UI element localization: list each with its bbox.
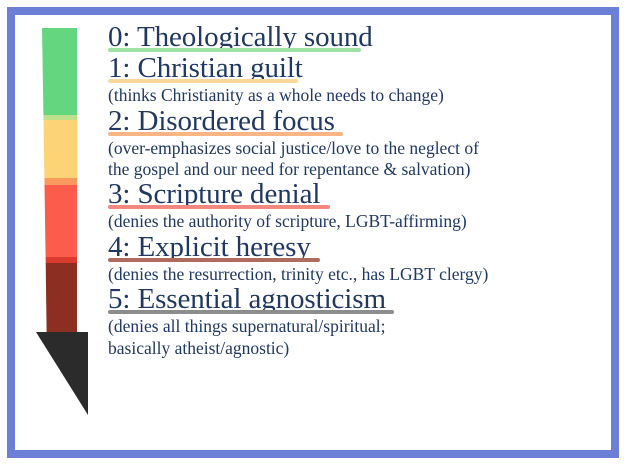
level-description-4: (denies the resurrection, trinity etc., …	[108, 264, 604, 284]
slide-canvas: 0: Theologically sound 1: Christian guil…	[0, 0, 626, 465]
arrow-segment-1-blend	[44, 178, 77, 185]
arrow-segment-2	[45, 185, 78, 257]
level-rule-4	[108, 258, 320, 262]
level-heading-1: 1: Christian guilt	[108, 53, 303, 84]
level-row-3: 3: Scripture denial (denies the authorit…	[108, 179, 604, 231]
level-row-1: 1: Christian guilt (thinks Christianity …	[108, 53, 604, 105]
arrow-segment-1	[44, 120, 78, 178]
level-row-5: 5: Essential agnosticism (denies all thi…	[108, 284, 604, 358]
severity-level-list: 0: Theologically sound 1: Christian guil…	[108, 22, 604, 358]
level-heading-2: 2: Disordered focus	[108, 106, 335, 137]
arrow-segment-0	[42, 28, 77, 115]
severity-gradient-arrow	[30, 20, 120, 420]
arrow-segment-3	[46, 263, 77, 332]
level-heading-4: 4: Explicit heresy	[108, 232, 311, 263]
level-heading-3: 3: Scripture denial	[108, 179, 320, 210]
level-description-2: (over-emphasizes social justice/love to …	[108, 138, 604, 158]
level-description-5-line2: basically atheist/agnostic)	[108, 338, 604, 358]
level-description-1: (thinks Christianity as a whole needs to…	[108, 85, 604, 105]
level-rule-3	[108, 205, 330, 209]
level-rule-1	[108, 79, 298, 83]
level-description-5: (denies all things supernatural/spiritua…	[108, 316, 604, 336]
level-row-4: 4: Explicit heresy (denies the resurrect…	[108, 232, 604, 284]
arrow-segment-2-blend	[46, 257, 77, 263]
arrowhead	[36, 332, 88, 415]
level-rule-2	[108, 132, 343, 136]
arrow-segment-0-blend	[43, 115, 77, 120]
level-heading-0: 0: Theologically sound	[108, 22, 373, 53]
level-row-0: 0: Theologically sound	[108, 22, 604, 53]
level-description-2-line2: the gospel and our need for repentance &…	[108, 159, 604, 179]
level-row-2: 2: Disordered focus (over-emphasizes soc…	[108, 106, 604, 180]
level-description-3: (denies the authority of scripture, LGBT…	[108, 211, 604, 231]
level-rule-5	[108, 310, 394, 314]
level-heading-5: 5: Essential agnosticism	[108, 284, 386, 315]
arrow-bar-segments	[42, 28, 77, 332]
